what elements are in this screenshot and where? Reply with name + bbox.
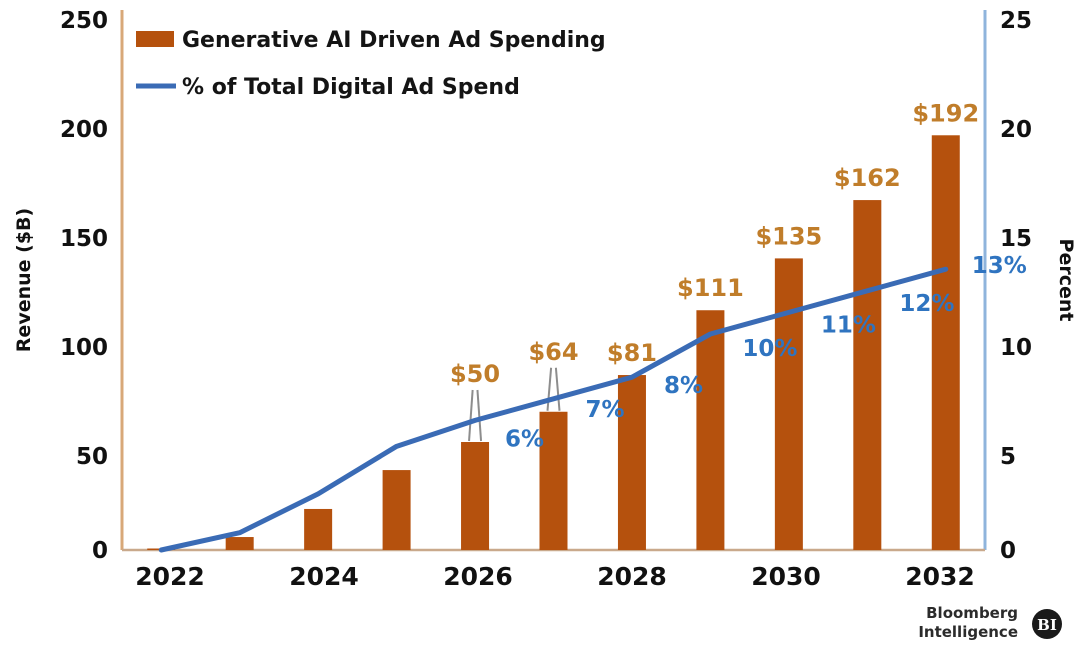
bar-label-2031: $162 (834, 164, 901, 192)
right-tick-10: 10 (1000, 335, 1032, 361)
bar-2030 (775, 258, 803, 550)
bar-2032 (932, 135, 960, 550)
left-tick-0: 0 (92, 538, 108, 564)
bar-2025 (383, 470, 411, 550)
legend-label-bar: Generative AI Driven Ad Spending (182, 28, 606, 53)
percent-label-2032: 13% (972, 253, 1027, 279)
left-axis-title: Revenue ($B) (13, 208, 35, 352)
x-tick-2030: 2030 (751, 562, 821, 591)
right-tick-25: 25 (1000, 8, 1032, 34)
legend-label-line: % of Total Digital Ad Spend (182, 75, 520, 100)
bi-badge-label: BI (1037, 616, 1057, 634)
chart-container: 250 200 150 100 50 0 Revenue ($B) 25 20 … (0, 0, 1080, 650)
brand-line-1: Bloomberg (926, 604, 1018, 622)
left-tick-50: 50 (76, 444, 108, 470)
bar-2023 (226, 537, 254, 550)
bar-2024 (304, 509, 332, 550)
right-tick-5: 5 (1000, 444, 1016, 470)
percent-label-2026: 6% (505, 426, 544, 452)
left-tick-250: 250 (60, 8, 108, 34)
bar-2029 (696, 310, 724, 550)
percent-label-2030: 11% (821, 312, 876, 338)
right-tick-20: 20 (1000, 117, 1032, 143)
bar-2026 (461, 442, 489, 550)
percent-label-2029: 10% (742, 336, 797, 362)
right-axis-title: Percent (1055, 239, 1077, 322)
x-tick-2024: 2024 (289, 562, 359, 591)
combo-chart-figure: 250 200 150 100 50 0 Revenue ($B) 25 20 … (0, 0, 1080, 650)
bar-label-2029: $111 (677, 274, 744, 302)
brand-line-2: Intelligence (918, 623, 1018, 641)
left-tick-200: 200 (60, 117, 108, 143)
bar-2031 (853, 200, 881, 550)
percent-label-2028: 8% (664, 373, 703, 399)
bar-label-2032: $192 (912, 99, 979, 127)
percent-label-2031: 12% (899, 291, 954, 317)
x-tick-2032: 2032 (905, 562, 975, 591)
left-tick-150: 150 (60, 226, 108, 252)
bar-label-2026: $50 (450, 360, 500, 388)
percent-label-2027: 7% (586, 397, 625, 423)
right-tick-0: 0 (1000, 538, 1016, 564)
x-tick-2026: 2026 (443, 562, 513, 591)
x-tick-2028: 2028 (597, 562, 667, 591)
bar-label-2030: $135 (755, 222, 822, 250)
legend-bar-swatch-icon (136, 31, 174, 47)
chart-background (0, 0, 1080, 650)
right-tick-15: 15 (1000, 226, 1032, 252)
bar-label-2027: $64 (528, 338, 578, 366)
bar-label-2028: $81 (607, 339, 657, 367)
x-tick-2022: 2022 (135, 562, 205, 591)
left-tick-100: 100 (60, 335, 108, 361)
